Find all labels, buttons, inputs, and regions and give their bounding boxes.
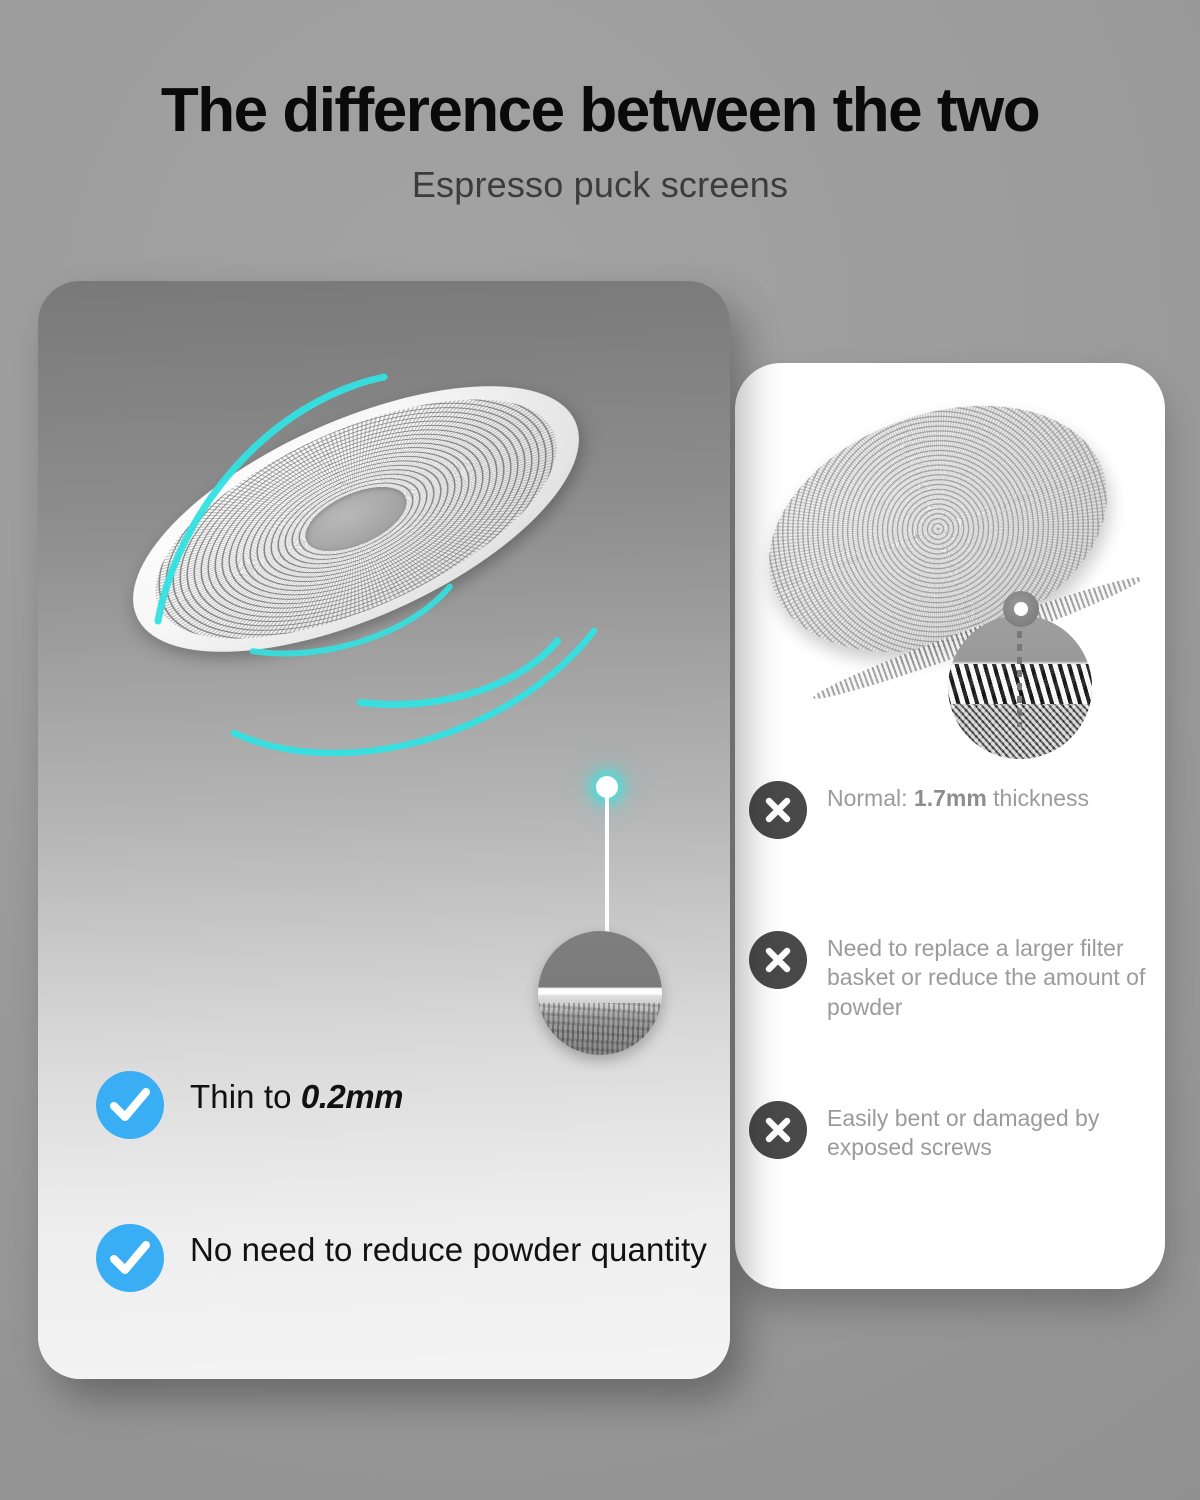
list-item: Easily bent or damaged by exposed screws xyxy=(749,1101,1165,1163)
list-item-label: Need to replace a larger filter basket o… xyxy=(827,931,1165,1022)
list-item-label: Normal: 1.7mm thickness xyxy=(827,781,1089,813)
competitor-hero-image xyxy=(735,363,1165,783)
list-item-label: No need to reduce powder quantity xyxy=(190,1224,707,1270)
comparison-area: Normal: 1.7mm thickness Need to replace … xyxy=(0,0,1200,1500)
x-icon xyxy=(749,931,807,989)
list-item: Need to replace a larger filter basket o… xyxy=(749,931,1165,1022)
list-item: Normal: 1.7mm thickness xyxy=(749,781,1089,839)
perforated-disc-icon xyxy=(51,281,660,808)
magnifier-thin-cross-section xyxy=(538,931,662,1055)
list-item-label: Easily bent or damaged by exposed screws xyxy=(827,1101,1165,1163)
product-card: Thin to 0.2mm No need to reduce powder q… xyxy=(38,281,730,1379)
x-icon xyxy=(749,1101,807,1159)
list-item-label: Thin to 0.2mm xyxy=(190,1071,403,1117)
callout-marker-icon xyxy=(1003,591,1039,627)
list-item: No need to reduce powder quantity xyxy=(96,1224,707,1292)
callout-leader-line xyxy=(605,794,609,937)
x-icon xyxy=(749,781,807,839)
competitor-card: Normal: 1.7mm thickness Need to replace … xyxy=(735,363,1165,1289)
product-hero-image xyxy=(38,281,730,781)
check-icon xyxy=(96,1224,164,1292)
callout-leader-line xyxy=(1017,631,1022,727)
list-item: Thin to 0.2mm xyxy=(96,1071,403,1139)
cross-section-grain xyxy=(538,1003,662,1055)
disc-surface xyxy=(97,331,616,706)
check-icon xyxy=(96,1071,164,1139)
